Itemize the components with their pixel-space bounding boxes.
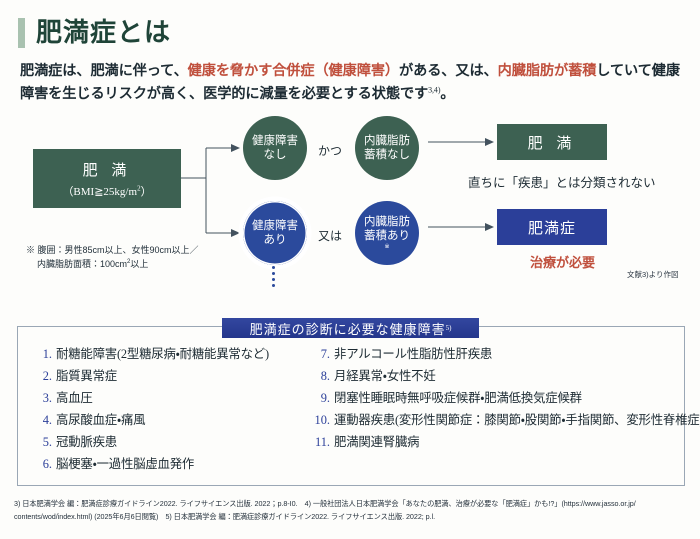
health-disorders-panel-title-marker: 5): [446, 324, 452, 332]
lead-highlight-2: 内臓脂肪が蓄積: [498, 63, 597, 79]
flow-result-obesity: 肥 満: [497, 124, 607, 160]
visceral-fat-area-prefix: 内臓脂肪面積：100cm: [37, 259, 127, 269]
list-item-label: 耐糖能障害(2型糖尿病・耐糖能異常など): [56, 348, 269, 360]
list-item: 6. 脳梗塞・一過性脳虚血発作: [35, 458, 295, 470]
list-item-label: 脳梗塞・一過性脳虚血発作: [56, 458, 194, 470]
list-item-number: 4.: [35, 414, 52, 426]
reference-line-2: contents/wod/index.html) (2025年6月6日閲覧) 5…: [14, 511, 692, 524]
list-item-number: 9.: [313, 392, 330, 404]
health-disorders-list: 1. 耐糖能障害(2型糖尿病・耐糖能異常など) 2. 脂質異常症 3. 高血圧 …: [17, 348, 683, 479]
flow-circle-no-health-disorder: 健康障害 なし: [243, 116, 307, 180]
health-disorders-panel-title: 肥満症の診断に必要な健康障害5): [222, 318, 479, 338]
list-item: 7. 非アルコール性脂肪性肝疾患: [313, 348, 683, 360]
flow-circle-has-visceral-fat: 内臓脂肪 蓄積あり※: [355, 201, 419, 265]
list-item-number: 10.: [313, 414, 330, 426]
flow-note-treatment-required: 治療が必要: [530, 252, 595, 271]
flow-node-obesity-start-label: 肥 満: [83, 159, 132, 180]
flow-node-obesity-start: 肥 満 （BMI≧25kg/m2）: [33, 149, 181, 208]
health-disorders-column-right: 7. 非アルコール性脂肪性肝疾患 8. 月経異常・女性不妊 9. 閉塞性睡眠時無…: [295, 348, 683, 479]
dotted-link-to-panel: [272, 266, 275, 290]
list-item: 8. 月経異常・女性不妊: [313, 370, 683, 382]
flow-result-obesity-disease: 肥満症: [497, 209, 607, 245]
list-item-number: 1.: [35, 348, 52, 360]
list-item-label: 非アルコール性脂肪性肝疾患: [334, 348, 492, 360]
lead-part-2: がある、又は、: [399, 63, 498, 79]
flow-circle-has-health-disorder: 健康障害 あり: [243, 201, 307, 265]
list-item-label: 月経異常・女性不妊: [334, 370, 436, 382]
flow-circle-has-visceral-fat-marker: ※: [384, 244, 389, 252]
list-item-label: 高血圧: [56, 392, 93, 404]
obesity-flowchart: 肥 満 （BMI≧25kg/m2） 健康障害 なし かつ 内臓脂肪 蓄積なし 肥…: [0, 114, 700, 289]
flow-circle-no-health-disorder-label: 健康障害 なし: [252, 134, 298, 163]
list-item: 11. 肥満関連腎臓病: [313, 436, 683, 448]
bmi-criteria-suffix: ）: [141, 186, 152, 198]
list-item: 9. 閉塞性睡眠時無呼吸症候群・肥満低換気症候群: [313, 392, 683, 404]
visceral-fat-area-suffix: 以上: [130, 259, 148, 269]
heading-accent-bar: [18, 18, 25, 48]
list-item-number: 5.: [35, 436, 52, 448]
flowchart-footnote: ※ 腹囲：男性85cm以上、女性90cm以上／ 内臓脂肪面積：100cm2以上: [26, 244, 199, 272]
page-header: 肥満症とは: [18, 18, 700, 48]
lead-highlight-1: 健康を脅かす合併症（健康障害）: [188, 63, 399, 79]
flow-circle-has-visceral-fat-label: 内臓脂肪 蓄積あり: [364, 215, 410, 244]
list-item: 1. 耐糖能障害(2型糖尿病・耐糖能異常など): [35, 348, 295, 360]
lead-reference-marker: 3,4): [428, 85, 440, 94]
flowchart-source-credit: 文献3)より作図: [627, 269, 679, 280]
flow-circle-no-visceral-fat: 内臓脂肪 蓄積なし: [355, 116, 419, 180]
list-item: 10. 運動器疾患(変形性関節症：膝関節・股関節・手指関節、変形性脊椎症): [313, 414, 683, 426]
reference-line-1: 3) 日本肥満学会 編：肥満症診療ガイドライン2022. ライフサイエンス出版.…: [14, 498, 692, 511]
lead-part-4: 。: [440, 86, 454, 102]
list-item-number: 8.: [313, 370, 330, 382]
list-item-label: 肥満関連腎臓病: [334, 436, 419, 448]
flow-circle-has-health-disorder-label: 健康障害 あり: [252, 219, 298, 248]
health-disorders-column-left: 1. 耐糖能障害(2型糖尿病・耐糖能異常など) 2. 脂質異常症 3. 高血圧 …: [17, 348, 295, 479]
list-item: 4. 高尿酸血症・痛風: [35, 414, 295, 426]
list-item-label: 冠動脈疾患: [56, 436, 117, 448]
list-item-number: 6.: [35, 458, 52, 470]
flow-circle-no-visceral-fat-label: 内臓脂肪 蓄積なし: [364, 134, 410, 163]
flow-connector-and: かつ: [318, 142, 342, 159]
list-item-number: 3.: [35, 392, 52, 404]
references-block: 3) 日本肥満学会 編：肥満症診療ガイドライン2022. ライフサイエンス出版.…: [14, 498, 692, 523]
health-disorders-panel-title-text: 肥満症の診断に必要な健康障害: [250, 319, 446, 338]
page-title: 肥満症とは: [36, 20, 171, 46]
list-item-label: 高尿酸血症・痛風: [56, 414, 145, 426]
list-item-number: 2.: [35, 370, 52, 382]
flow-connector-or: 又は: [318, 227, 342, 244]
list-item: 3. 高血圧: [35, 392, 295, 404]
flow-node-obesity-start-criteria: （BMI≧25kg/m2）: [62, 183, 151, 199]
flow-note-not-classified-as-disease: 直ちに「疾患」とは分類されない: [468, 172, 656, 191]
flowchart-footnote-line-1: ※ 腹囲：男性85cm以上、女性90cm以上／: [26, 245, 199, 255]
lead-part-1: 肥満症は、肥満に伴って、: [20, 63, 188, 79]
list-item-number: 11.: [313, 436, 330, 448]
list-item-label: 脂質異常症: [56, 370, 117, 382]
flowchart-footnote-line-2: 内臓脂肪面積：100cm2以上: [26, 258, 199, 272]
list-item: 2. 脂質異常症: [35, 370, 295, 382]
list-item-number: 7.: [313, 348, 330, 360]
list-item-label: 閉塞性睡眠時無呼吸症候群・肥満低換気症候群: [334, 392, 582, 404]
bmi-criteria-prefix: （BMI≧25kg/m: [62, 186, 137, 198]
lead-paragraph: 肥満症は、肥満に伴って、健康を脅かす合併症（健康障害）がある、又は、内臓脂肪が蓄…: [20, 60, 680, 106]
list-item: 5. 冠動脈疾患: [35, 436, 295, 448]
list-item-label: 運動器疾患(変形性関節症：膝関節・股関節・手指関節、変形性脊椎症): [334, 414, 700, 426]
